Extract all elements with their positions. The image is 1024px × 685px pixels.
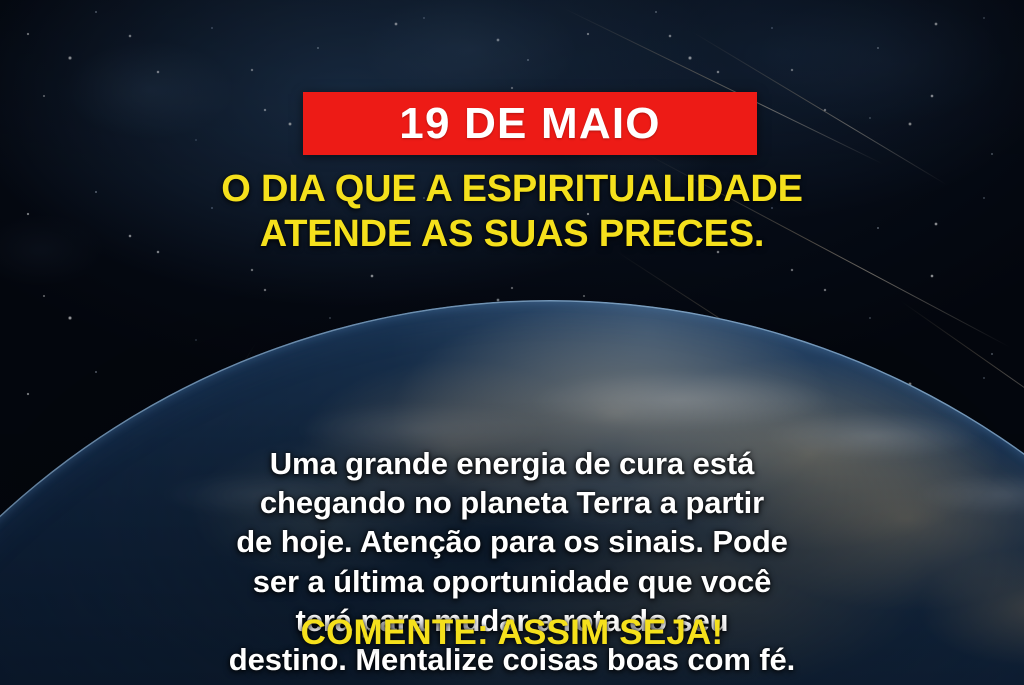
headline: O DIA QUE A ESPIRITUALIDADE ATENDE AS SU… [0,167,1024,257]
body-line: chegando no planeta Terra a partir [40,483,984,522]
headline-line-2: ATENDE AS SUAS PRECES. [24,212,1000,257]
call-to-action-label: COMENTE: ASSIM SEJA! [301,613,724,652]
headline-line-1: O DIA QUE A ESPIRITUALIDADE [221,168,803,210]
body-line: de hoje. Atenção para os sinais. Pode [40,522,984,561]
body-line: ser a última oportunidade que você [40,562,984,601]
body-line: Uma grande energia de cura está [40,444,984,483]
call-to-action: COMENTE: ASSIM SEJA! [0,614,1024,653]
poster-content: 19 DE MAIO O DIA QUE A ESPIRITUALIDADE A… [0,0,1024,685]
date-banner-label: 19 DE MAIO [399,102,660,146]
date-banner: 19 DE MAIO [303,92,757,155]
poster-root: 19 DE MAIO O DIA QUE A ESPIRITUALIDADE A… [0,0,1024,685]
